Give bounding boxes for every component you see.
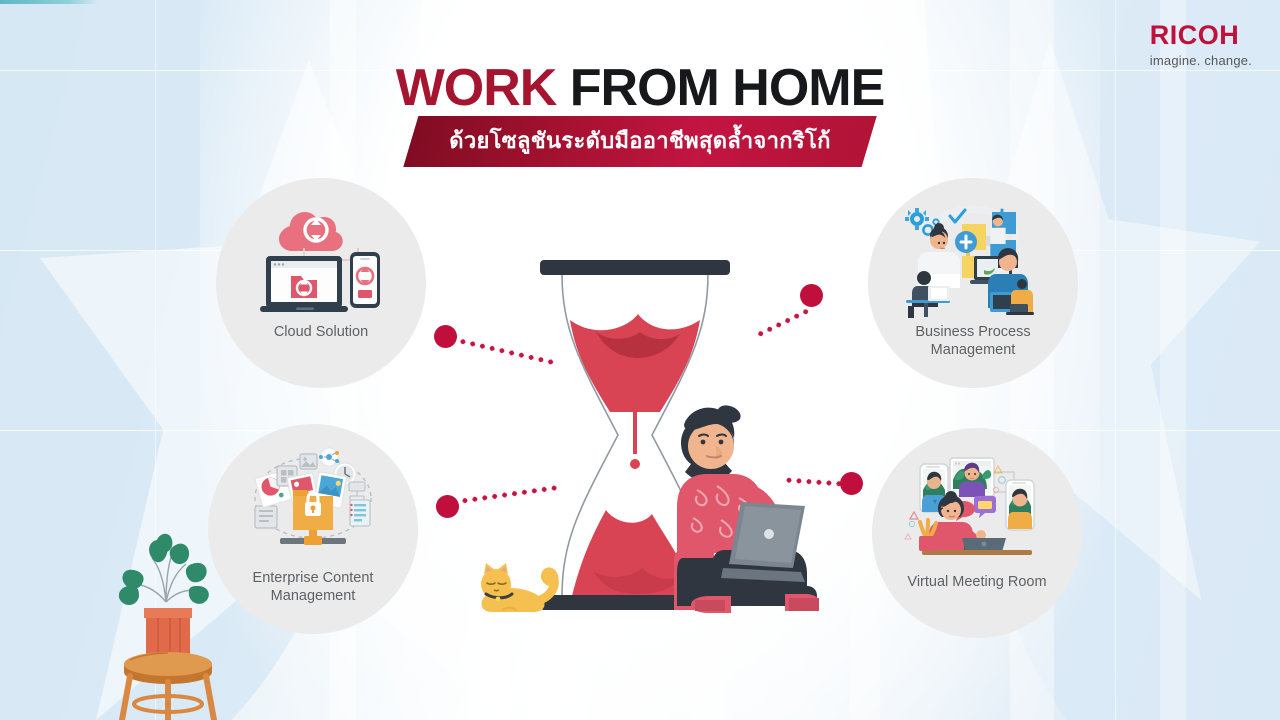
subtitle-banner: ด้วยโซลูชันระดับมืออาชีพสุดล้ำจากริโก้ (403, 116, 877, 167)
feature-label: Cloud Solution (234, 324, 409, 342)
connector-dot-cloud (434, 325, 457, 348)
video-call-icon (902, 450, 1052, 568)
feature-cloud-solution[interactable]: Cloud Solution (216, 178, 426, 388)
team-workflow-icon (898, 200, 1048, 318)
speech-bubble (974, 496, 996, 518)
connector-dot-ecm (436, 495, 459, 518)
logo-wordmark: RICOH (1150, 22, 1252, 49)
feature-label: Enterprise Content Management (226, 570, 401, 606)
locked-folder-icon (238, 446, 388, 564)
background-gridline (0, 250, 1280, 251)
feature-virtual-meeting-room[interactable]: Virtual Meeting Room (872, 428, 1082, 638)
feature-business-process-management[interactable]: Business Process Management (868, 178, 1078, 388)
page-title: WORK FROM HOME (0, 62, 1280, 114)
title-word-work: WORK (396, 59, 557, 117)
title-word-from-home: FROM HOME (570, 59, 885, 117)
subtitle-text: ด้วยโซลูชันระดับมืออาชีพสุดล้ำจากริโก้ (449, 128, 831, 153)
connector-line-bpm (757, 307, 812, 338)
feature-label: Business Process Management (886, 324, 1061, 360)
connector-dot-bpm (800, 284, 823, 307)
sleeping-cat-icon (470, 552, 570, 618)
accent-bar-top-left (0, 0, 98, 4)
cloud-sync-devices-icon (246, 200, 396, 318)
person-with-laptop-icon (655, 398, 845, 623)
feature-enterprise-content-management[interactable]: Enterprise Content Management (208, 424, 418, 634)
potted-plant-on-stool-icon (108, 530, 228, 720)
feature-label: Virtual Meeting Room (890, 574, 1065, 592)
poster-canvas: RICOH imagine. change. WORK FROM HOME ด้… (0, 0, 1280, 720)
